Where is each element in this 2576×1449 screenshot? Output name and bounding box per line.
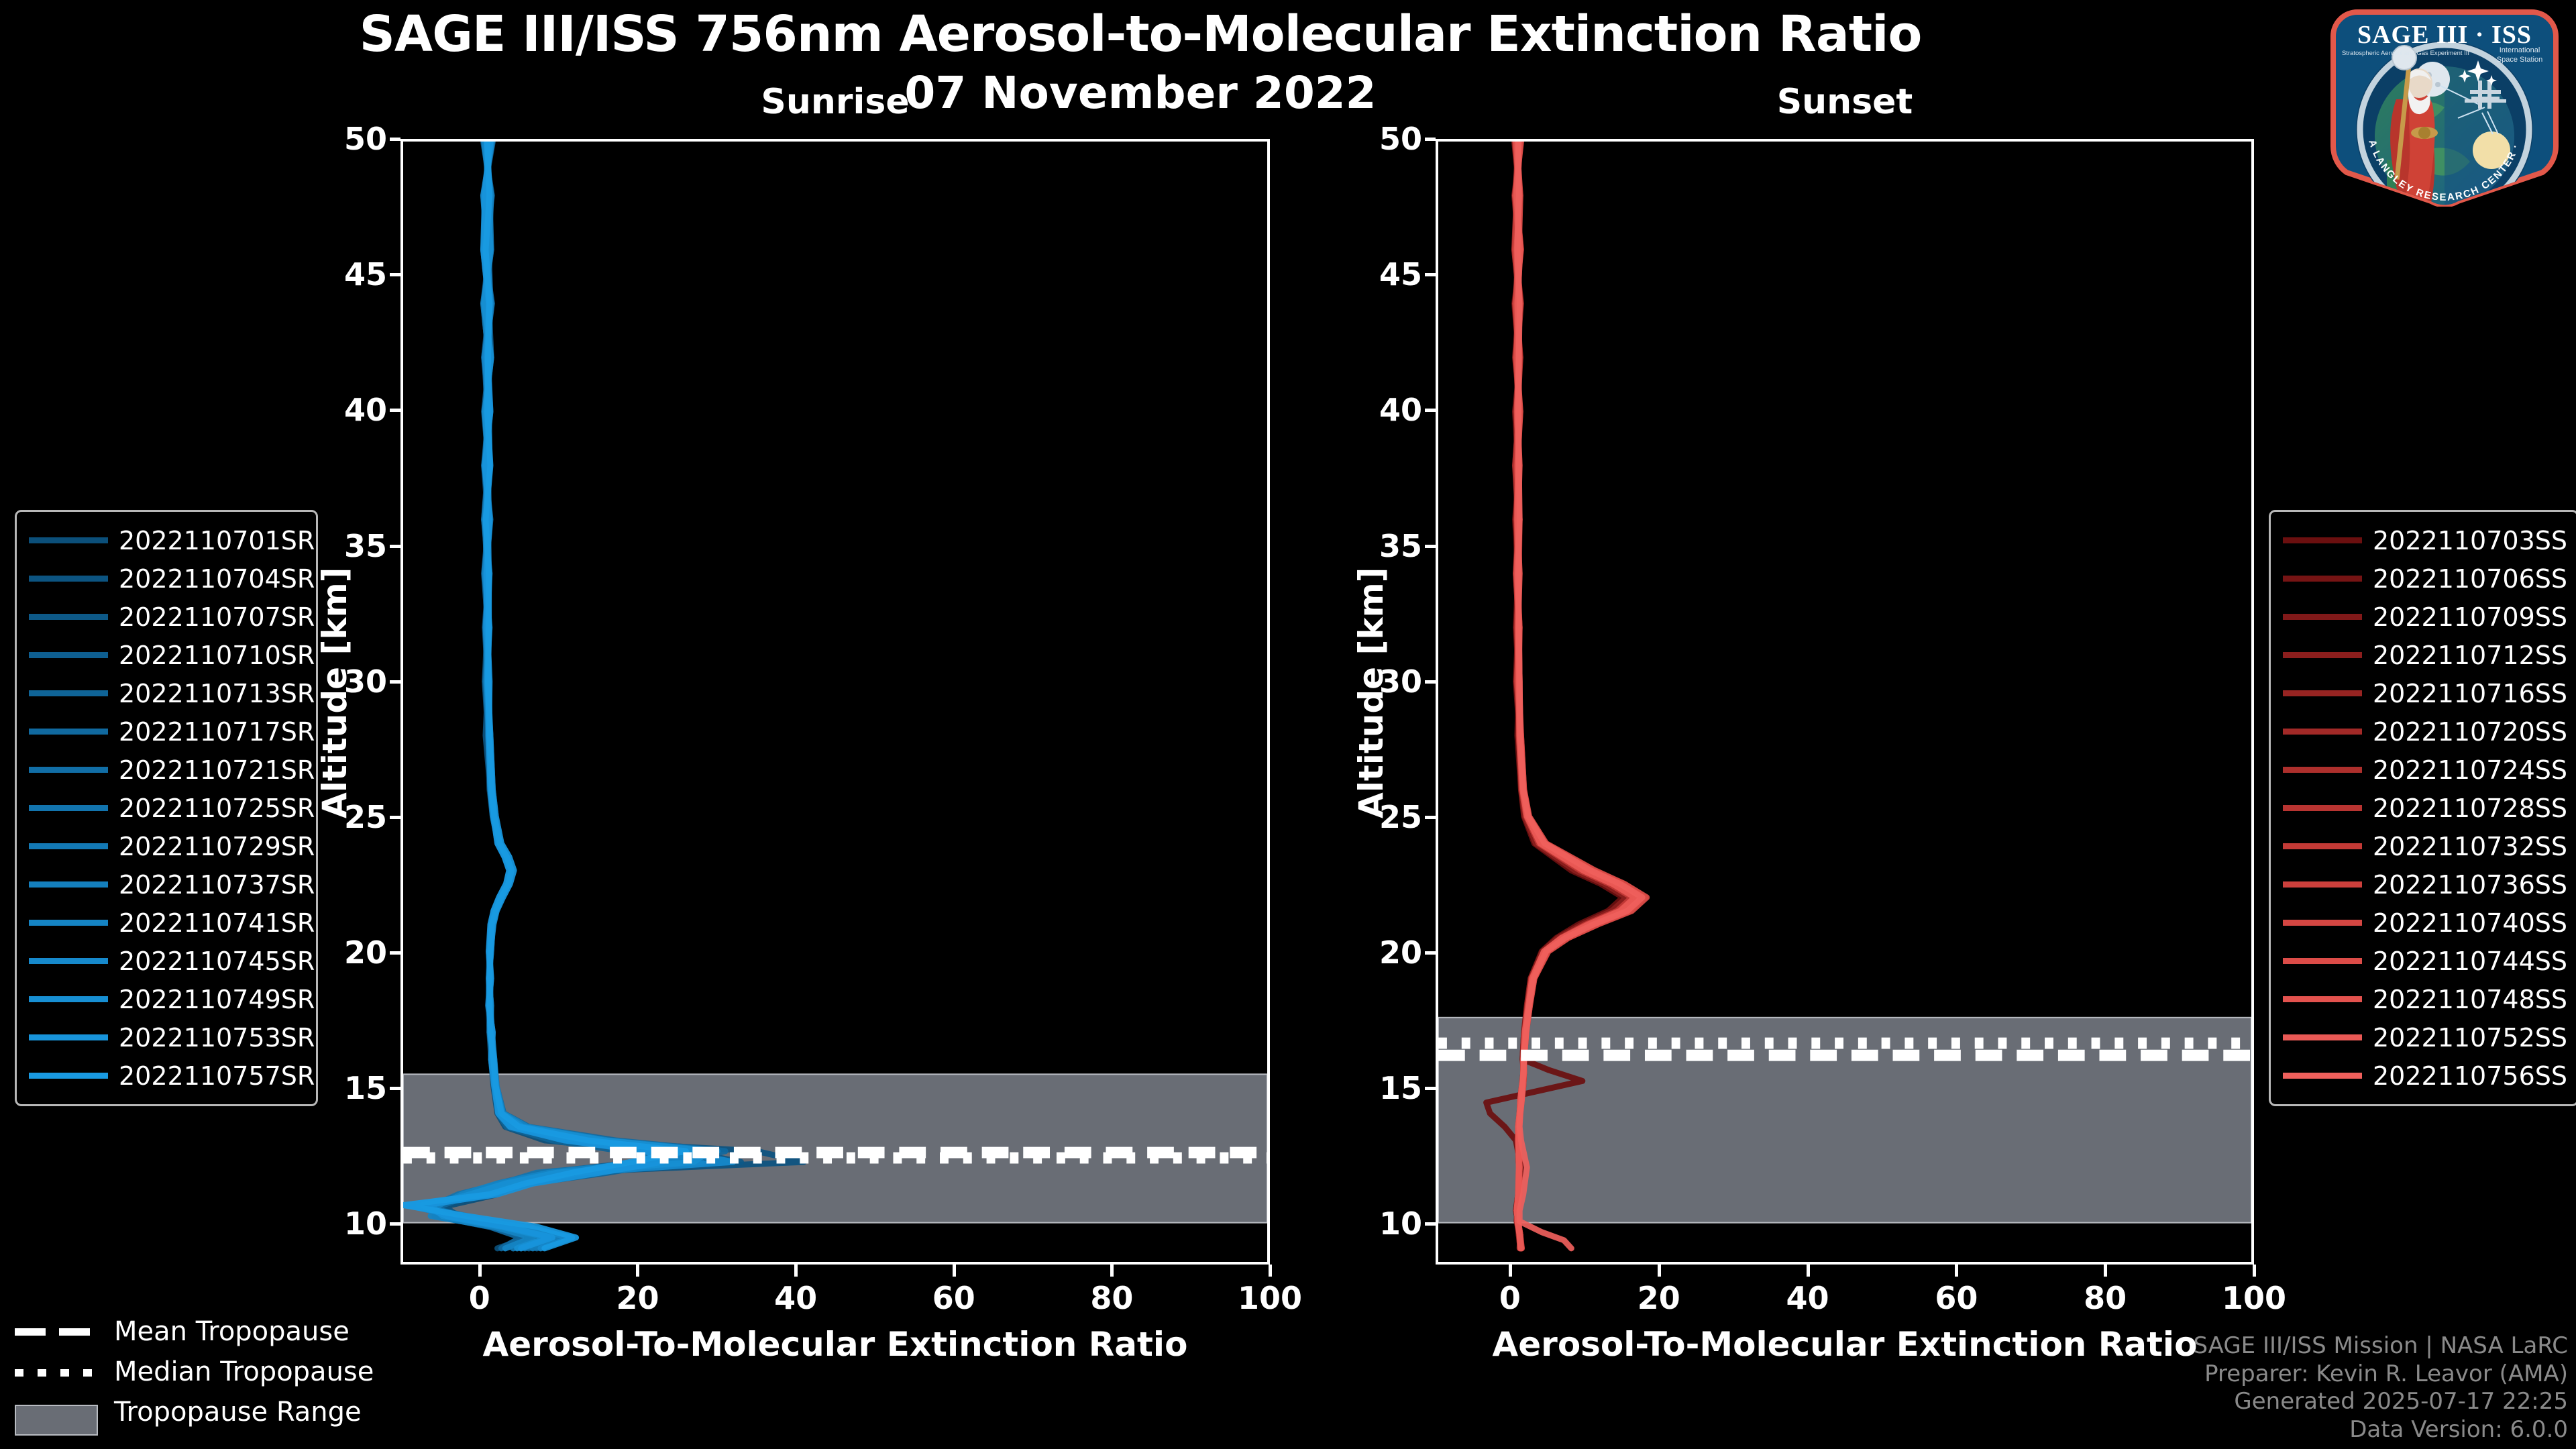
legend-item-label: 2022110736SS [2373, 870, 2567, 900]
legend-item[interactable]: 2022110736SS [2283, 865, 2565, 904]
legend-color-swatch [2283, 767, 2362, 773]
patch-title: SAGE III · ISS [2357, 21, 2532, 49]
y-axis-tick-label: 50 [1348, 121, 1422, 157]
y-axis-tick-mark [390, 1087, 400, 1090]
x-axis-tick-label: 80 [2084, 1280, 2127, 1316]
legend-color-swatch [29, 537, 108, 543]
legend-label-median: Median Tropopause [114, 1356, 374, 1387]
legend-item-label: 2022110704SR [119, 564, 315, 594]
legend-color-swatch [2283, 614, 2362, 620]
dotted-line-icon [15, 1364, 102, 1379]
y-axis-label-sunrise: Altitude [km] [315, 567, 354, 818]
x-axis-tick-label: 0 [469, 1280, 490, 1316]
plot-area-sunrise [403, 142, 1267, 1262]
patch-subtitle-right-2: Space Station [2497, 56, 2543, 64]
y-axis-tick-label: 10 [1348, 1205, 1422, 1242]
legend-color-swatch [2283, 576, 2362, 582]
legend-item[interactable]: 2022110703SS [2283, 521, 2565, 559]
legend-item-label: 2022110753SR [119, 1023, 315, 1053]
legend-item-label: 2022110720SS [2373, 717, 2567, 747]
y-axis-tick-mark [390, 951, 400, 955]
y-axis-tick-mark [1425, 1222, 1436, 1226]
y-axis-tick-mark [390, 816, 400, 819]
legend-item[interactable]: 2022110706SS [2283, 559, 2565, 598]
y-axis-tick-label: 40 [1348, 392, 1422, 428]
legend-color-swatch [2283, 729, 2362, 735]
credits-block: SAGE III/ISS Mission | NASA LaRC Prepare… [2193, 1332, 2568, 1444]
legend-item-label: 2022110716SS [2373, 679, 2567, 708]
legend-item-label: 2022110717SR [119, 717, 315, 747]
y-axis-tick-label: 50 [313, 121, 387, 157]
legend-item-label: 2022110710SR [119, 641, 315, 670]
legend-item[interactable]: 2022110721SR [29, 751, 304, 789]
x-axis-tick-mark [1807, 1265, 1810, 1277]
legend-item-label: 2022110740SS [2373, 908, 2567, 938]
legend-item-label: 2022110706SS [2373, 564, 2567, 594]
legend-item[interactable]: 2022110709SS [2283, 598, 2565, 636]
y-axis-tick-label: 15 [313, 1070, 387, 1106]
legend-item-median-tropopause: Median Tropopause [15, 1352, 374, 1392]
legend-item[interactable]: 2022110744SS [2283, 942, 2565, 980]
legend-color-swatch [2283, 920, 2362, 926]
page-title: SAGE III/ISS 756nm Aerosol-to-Molecular … [0, 9, 2281, 60]
legend-item[interactable]: 2022110717SR [29, 712, 304, 751]
x-axis-tick-mark [953, 1265, 956, 1277]
legend-color-swatch [2283, 1034, 2362, 1040]
y-axis-tick-mark [1425, 1087, 1436, 1090]
y-axis-tick-mark [1425, 138, 1436, 141]
patch-subtitle-left: Stratospheric Aerosol and Gas Experiment… [2342, 50, 2469, 57]
legend-item-label: 2022110721SR [119, 755, 315, 785]
legend-item[interactable]: 2022110716SS [2283, 674, 2565, 712]
x-axis-tick-mark [478, 1265, 482, 1277]
chart-panel-sunrise [400, 139, 1270, 1265]
legend-item[interactable]: 2022110704SR [29, 559, 304, 598]
x-axis-tick-label: 40 [774, 1280, 817, 1316]
x-axis-tick-label: 60 [1935, 1280, 1978, 1316]
plot-area-sunset [1438, 142, 2251, 1262]
legend-color-swatch [29, 843, 108, 849]
y-axis-tick-mark [390, 409, 400, 412]
legend-item-label: 2022110703SS [2373, 526, 2567, 555]
legend-item[interactable]: 2022110749SR [29, 980, 304, 1018]
legend-item-label: 2022110725SR [119, 794, 315, 823]
x-axis-tick-label: 20 [616, 1280, 659, 1316]
y-axis-tick-label: 10 [313, 1205, 387, 1242]
legend-color-swatch [2283, 996, 2362, 1002]
legend-sunrise[interactable]: 2022110701SR2022110704SR2022110707SR2022… [15, 510, 318, 1106]
legend-item-label: 2022110737SR [119, 870, 315, 900]
legend-item-label: 2022110756SS [2373, 1061, 2567, 1091]
y-axis-tick-mark [390, 680, 400, 684]
legend-item-label: 2022110709SS [2373, 602, 2567, 632]
y-axis-tick-label: 15 [1348, 1070, 1422, 1106]
y-axis-tick-label: 35 [313, 528, 387, 564]
chart-panel-sunset [1436, 139, 2254, 1265]
x-axis-tick-mark [1955, 1265, 1958, 1277]
x-axis-label-sunrise: Aerosol-To-Molecular Extinction Ratio [400, 1325, 1270, 1364]
legend-color-swatch [29, 690, 108, 696]
legend-color-swatch [2283, 843, 2362, 849]
legend-item[interactable]: 2022110737SR [29, 865, 304, 904]
legend-color-swatch [2283, 805, 2362, 811]
legend-color-swatch [29, 958, 108, 964]
x-axis-tick-label: 20 [1638, 1280, 1680, 1316]
legend-item[interactable]: 2022110720SS [2283, 712, 2565, 751]
y-axis-tick-label: 40 [313, 392, 387, 428]
credit-version: Data Version: 6.0.0 [2193, 1416, 2568, 1444]
legend-item[interactable]: 2022110753SR [29, 1018, 304, 1057]
legend-color-swatch [29, 614, 108, 620]
x-axis-tick-label: 60 [932, 1280, 975, 1316]
y-axis-tick-label: 45 [313, 256, 387, 292]
patch-subtitle-right-1: International [2500, 46, 2540, 54]
legend-label-mean: Mean Tropopause [114, 1316, 350, 1347]
x-axis-tick-mark [1658, 1265, 1661, 1277]
legend-item-label: 2022110728SS [2373, 794, 2567, 823]
legend-item-label: 2022110745SR [119, 947, 315, 976]
y-axis-tick-label: 20 [1348, 934, 1422, 971]
legend-item[interactable]: 2022110756SS [2283, 1057, 2565, 1095]
legend-item[interactable]: 2022110707SR [29, 598, 304, 636]
y-axis-tick-label: 35 [1348, 528, 1422, 564]
range-swatch-icon [15, 1405, 102, 1419]
legend-color-swatch [29, 1034, 108, 1040]
y-axis-tick-mark [390, 545, 400, 548]
x-axis-tick-mark [1110, 1265, 1114, 1277]
y-axis-tick-mark [390, 273, 400, 276]
x-axis-tick-label: 100 [2222, 1280, 2286, 1316]
legend-item-label: 2022110757SR [119, 1061, 315, 1091]
x-axis-tick-label: 40 [1786, 1280, 1829, 1316]
legend-color-swatch [29, 881, 108, 888]
x-axis-tick-label: 0 [1499, 1280, 1521, 1316]
legend-color-swatch [2283, 881, 2362, 888]
dashed-line-icon [15, 1324, 102, 1339]
legend-color-swatch [29, 996, 108, 1002]
legend-item-label: 2022110744SS [2373, 947, 2567, 976]
legend-color-swatch [29, 652, 108, 658]
credit-preparer: Preparer: Kevin R. Leavor (AMA) [2193, 1360, 2568, 1388]
y-axis-tick-mark [1425, 816, 1436, 819]
y-axis-label-sunset: Altitude [km] [1352, 567, 1391, 818]
sunrise-panel-label: Sunrise [400, 82, 1270, 122]
credit-mission: SAGE III/ISS Mission | NASA LaRC [2193, 1332, 2568, 1360]
x-axis-tick-mark [636, 1265, 639, 1277]
y-axis-tick-mark [1425, 409, 1436, 412]
legend-item[interactable]: 2022110745SR [29, 942, 304, 980]
x-axis-tick-label: 80 [1090, 1280, 1133, 1316]
y-axis-tick-mark [1425, 545, 1436, 548]
legend-item[interactable]: 2022110741SR [29, 904, 304, 942]
sunset-panel-label: Sunset [1436, 82, 2254, 122]
legend-color-swatch [29, 729, 108, 735]
legend-color-swatch [29, 767, 108, 773]
x-axis-tick-label: 100 [1238, 1280, 1302, 1316]
legend-item-label: 2022110712SS [2373, 641, 2567, 670]
y-axis-tick-label: 20 [313, 934, 387, 971]
legend-color-swatch [2283, 690, 2362, 696]
legend-color-swatch [2283, 958, 2362, 964]
legend-item[interactable]: 2022110710SR [29, 636, 304, 674]
legend-item[interactable]: 2022110732SS [2283, 827, 2565, 865]
y-axis-tick-label: 45 [1348, 256, 1422, 292]
x-axis-label-sunset: Aerosol-To-Molecular Extinction Ratio [1436, 1325, 2254, 1364]
y-axis-tick-mark [1425, 680, 1436, 684]
legend-sunset[interactable]: 2022110703SS2022110706SS2022110709SS2022… [2269, 510, 2576, 1106]
tropopause-legend: Mean Tropopause Median Tropopause Tropop… [15, 1311, 374, 1432]
legend-item-label: 2022110748SS [2373, 985, 2567, 1014]
y-axis-tick-mark [1425, 273, 1436, 276]
legend-item-label: 2022110741SR [119, 908, 315, 938]
legend-item-label: 2022110701SR [119, 526, 315, 555]
y-axis-tick-mark [390, 1222, 400, 1226]
legend-item[interactable]: 2022110748SS [2283, 980, 2565, 1018]
x-axis-tick-mark [2104, 1265, 2107, 1277]
legend-item[interactable]: 2022110757SR [29, 1057, 304, 1095]
legend-color-swatch [2283, 652, 2362, 658]
legend-item-mean-tropopause: Mean Tropopause [15, 1311, 374, 1352]
legend-item-label: 2022110707SR [119, 602, 315, 632]
legend-color-swatch [2283, 1073, 2362, 1079]
legend-item[interactable]: 2022110728SS [2283, 789, 2565, 827]
sage3-iss-mission-patch: SAGE III · ISS Stratospheric Aerosol and… [2326, 5, 2563, 207]
legend-color-swatch [29, 805, 108, 811]
legend-item[interactable]: 2022110701SR [29, 521, 304, 559]
legend-item-label: 2022110724SS [2373, 755, 2567, 785]
legend-item[interactable]: 2022110729SR [29, 827, 304, 865]
legend-item-label: 2022110729SR [119, 832, 315, 861]
legend-item[interactable]: 2022110725SR [29, 789, 304, 827]
credit-generated: Generated 2025-07-17 22:25 [2193, 1388, 2568, 1415]
legend-color-swatch [29, 920, 108, 926]
y-axis-tick-mark [1425, 951, 1436, 955]
legend-item-label: 2022110749SR [119, 985, 315, 1014]
legend-color-swatch [2283, 537, 2362, 543]
legend-item-label: 2022110732SS [2373, 832, 2567, 861]
x-axis-tick-mark [2253, 1265, 2256, 1277]
legend-item-label: 2022110752SS [2373, 1023, 2567, 1053]
legend-item[interactable]: 2022110752SS [2283, 1018, 2565, 1057]
legend-item[interactable]: 2022110740SS [2283, 904, 2565, 942]
legend-item-label: 2022110713SR [119, 679, 315, 708]
x-axis-tick-mark [794, 1265, 798, 1277]
legend-label-range: Tropopause Range [114, 1397, 362, 1428]
legend-item-tropopause-range: Tropopause Range [15, 1392, 374, 1432]
legend-color-swatch [29, 576, 108, 582]
y-axis-tick-mark [390, 138, 400, 141]
x-axis-tick-mark [1269, 1265, 1272, 1277]
legend-item[interactable]: 2022110724SS [2283, 751, 2565, 789]
legend-color-swatch [29, 1073, 108, 1079]
legend-item[interactable]: 2022110713SR [29, 674, 304, 712]
x-axis-tick-mark [1509, 1265, 1512, 1277]
legend-item[interactable]: 2022110712SS [2283, 636, 2565, 674]
